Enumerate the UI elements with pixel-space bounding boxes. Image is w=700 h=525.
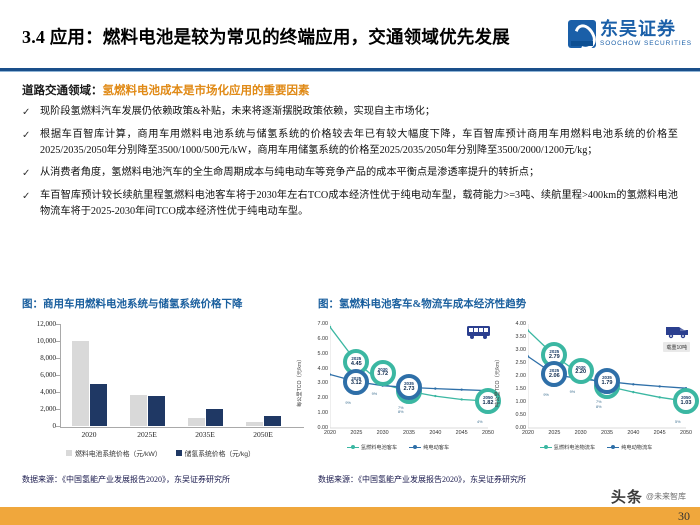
x-axis-tick-label: 2030 <box>575 430 587 436</box>
x-axis-tick-label: 2050E <box>253 430 273 439</box>
section-heading-highlight: 氢燃料电池成本是市场化应用的重要因素 <box>103 85 310 97</box>
y-axis-tick-label: 3.00 <box>302 380 328 386</box>
series-point <box>434 387 436 389</box>
y-axis-tick <box>56 375 60 376</box>
bar <box>206 409 223 426</box>
marker-percent: 9% <box>543 393 549 397</box>
y-axis-tick-label: 4.00 <box>302 366 328 372</box>
check-icon: ✓ <box>22 188 40 204</box>
x-axis-tick-label: 2025E <box>137 430 157 439</box>
legend-line-icon <box>540 447 552 449</box>
data-marker-donut: 20252.069% <box>541 361 567 387</box>
marker-value: 1.03 <box>681 401 692 407</box>
data-marker-label: 20252.79 <box>549 350 560 360</box>
slide-page: 3.4 应用：燃料电池是较为常见的终端应用，交通领域优先发展 东吴证券 SOOC… <box>0 0 700 525</box>
x-axis-tick-label: 2020 <box>82 430 97 439</box>
tco-charts-region: 氢燃料电池客车 纯电动客车 每公里TCO（元/km）0.001.002.003.… <box>300 318 700 468</box>
series-point <box>460 388 462 390</box>
y-axis-tick-label: 4.00 <box>500 321 526 327</box>
y-axis-tick <box>56 409 60 410</box>
slide-body: 道路交通领域：氢燃料电池成本是市场化应用的重要因素 ✓ 现阶段氢燃料汽车发展仍依… <box>0 74 700 226</box>
logo-name-en: SOOCHOW SECURITIES <box>600 41 692 48</box>
legend-label: 纯电动物流车 <box>621 444 652 451</box>
y-axis-tick-label: 2.50 <box>500 360 526 366</box>
list-item: ✓ 从消费者角度，氢燃料电池汽车的全生命周期成本与纯电动车等竞争产品的成本平衡点… <box>22 165 678 181</box>
data-marker-label: 20254.45 <box>351 357 362 367</box>
marker-value: 1.82 <box>483 400 494 406</box>
logo-text: 东吴证券 SOOCHOW SECURITIES <box>600 20 692 48</box>
data-marker-donut: 20351.797% <box>594 368 620 394</box>
marker-percent: 9% <box>372 392 378 396</box>
y-axis-tick-label: 0.50 <box>500 412 526 418</box>
marker-percent: 8% <box>596 405 602 409</box>
check-icon: ✓ <box>22 104 40 120</box>
y-axis-tick-label: 3.50 <box>500 334 526 340</box>
page-number: 30 <box>678 509 690 524</box>
soochow-logo-icon <box>568 20 596 48</box>
section-heading: 道路交通领域：氢燃料电池成本是市场化应用的重要因素 <box>22 82 700 98</box>
bullet-list: ✓ 现阶段氢燃料汽车发展仍依赖政策&补贴，未来将逐渐摆脱政策依赖，实现自主市场化… <box>22 104 678 219</box>
marker-percent: 9% <box>345 401 351 405</box>
x-axis-tick-label: 2035E <box>195 430 215 439</box>
y-axis-tick-label: 3.00 <box>500 347 526 353</box>
bar <box>148 396 165 426</box>
bar <box>264 416 281 426</box>
y-axis-tick-label: 2.00 <box>302 395 328 401</box>
x-axis-tick-label: 2025 <box>548 430 560 436</box>
legend-label: 氢燃料电池物流车 <box>554 444 596 451</box>
data-marker-donut: 20303.729% <box>370 360 396 386</box>
data-marker-label: 20252.06 <box>549 369 560 379</box>
x-axis-tick-label: 2040 <box>627 430 639 436</box>
data-marker-label: 20302.20 <box>575 366 586 376</box>
legend-item-hydrogen-storage: 储氢系统价格（元/kg） <box>176 448 255 458</box>
logo-name-cn: 东吴证券 <box>600 20 692 38</box>
bar-group <box>246 416 281 426</box>
data-marker-label: 20253.12 <box>351 376 362 386</box>
source-note-right: 数据来源：《中国氢能产业发展报告2020》，东吴证券研究所 <box>318 474 618 486</box>
bar-group <box>130 395 165 426</box>
line-chart-truck-tco: 氢燃料电池物流车 纯电动物流车 吨公里TCO（元/km）0.000.501.00… <box>498 318 694 468</box>
list-item: ✓ 车百智库预计较长续航里程氢燃料电池客车将于2030年左右TCO成本经济性优于… <box>22 188 678 219</box>
data-marker-donut: 20352.737% <box>396 374 422 400</box>
source-note-left: 数据来源：《中国氢能产业发展报告2020》，东吴证券研究所 <box>22 474 272 486</box>
legend-line-icon <box>607 447 619 449</box>
legend-label: 燃料电池系统价格（元/kW） <box>75 448 161 458</box>
x-axis-tick-label: 2030 <box>377 430 389 436</box>
x-axis-tick-label: 2025 <box>350 430 362 436</box>
bar-group <box>188 409 223 426</box>
legend-label: 储氢系统价格（元/kg） <box>185 448 255 458</box>
legend-line-icon <box>409 447 421 449</box>
bar-chart-price-decline: 02,0004,0006,0008,00010,00012,000 燃料电池系统… <box>18 318 303 468</box>
list-item: ✓ 根据车百智库计算，商用车用燃料电池系统与储氢系统的价格较去年已有较大幅度下降… <box>22 127 678 158</box>
x-axis-tick-label: 2045 <box>654 430 666 436</box>
list-item-text: 从消费者角度，氢燃料电池汽车的全生命周期成本与纯电动车等竞争产品的成本平衡点是渗… <box>40 165 539 181</box>
y-axis-tick-label: 5.00 <box>302 351 328 357</box>
marker-percent: 9% <box>570 390 576 394</box>
y-axis-tick <box>56 392 60 393</box>
x-axis-tick-label: 2050 <box>482 430 494 436</box>
y-axis-tick <box>56 324 60 325</box>
x-axis-tick-label: 2035 <box>403 430 415 436</box>
y-axis-tick-label: 2.00 <box>500 373 526 379</box>
series-point <box>434 395 436 397</box>
bar-chart-y-axis: 02,0004,0006,0008,00010,00012,000 <box>18 318 58 432</box>
list-item-text: 现阶段氢燃料汽车发展仍依赖政策&补贴，未来将逐渐摆脱政策依赖，实现自主市场化； <box>40 104 435 120</box>
list-item-text: 车百智库预计较长续航里程氢燃料电池客车将于2030年左右TCO成本经济性优于纯电… <box>40 188 678 219</box>
y-axis-tick-label: 1.50 <box>500 386 526 392</box>
x-axis-tick-label: 2045 <box>456 430 468 436</box>
marker-value: 1.79 <box>602 381 613 387</box>
data-marker-label: 20352.73 <box>404 382 415 392</box>
y-axis-tick-label: 7.00 <box>302 321 328 327</box>
marker-value: 2.06 <box>549 374 560 380</box>
y-axis-tick-label: 10,000 <box>37 337 56 345</box>
section-heading-lead: 道路交通领域： <box>22 85 103 97</box>
bar-chart-x-axis-line <box>60 427 304 428</box>
y-axis-tick-label: 6.00 <box>302 336 328 342</box>
legend-swatch-icon <box>176 450 182 456</box>
legend-item-fuel-cell: 燃料电池系统价格（元/kW） <box>66 448 161 458</box>
source-notes: 数据来源：《中国氢能产业发展报告2020》，东吴证券研究所 数据来源：《中国氢能… <box>0 474 700 508</box>
x-axis-tick-label: 2050 <box>680 430 692 436</box>
y-axis-tick <box>56 341 60 342</box>
bar <box>72 341 89 426</box>
data-marker-donut: 20253.129% <box>343 369 369 395</box>
marker-value: 2.73 <box>404 387 415 393</box>
data-marker-donut: 20302.209% <box>568 358 594 384</box>
data-marker-label: 20351.79 <box>602 376 613 386</box>
line-chart-bus-tco: 氢燃料电池客车 纯电动客车 每公里TCO（元/km）0.001.002.003.… <box>300 318 496 468</box>
series-point <box>658 385 660 387</box>
marker-value: 4.45 <box>351 361 362 367</box>
series-point <box>460 398 462 400</box>
brand-logo: 东吴证券 SOOCHOW SECURITIES <box>568 20 692 48</box>
footer-bar <box>0 507 700 525</box>
title-number: 3.4 <box>22 27 45 47</box>
y-axis-tick-label: 1.00 <box>302 410 328 416</box>
bus-icon <box>466 324 492 345</box>
header-divider-thin <box>0 71 700 72</box>
marker-value: 2.79 <box>549 355 560 361</box>
data-marker-label: 20501.03 <box>681 396 692 406</box>
watermark-sub: @未来智库 <box>646 491 686 502</box>
y-axis-tick-label: 1.00 <box>500 399 526 405</box>
figure-caption-right: 图：氢燃料电池客车&物流车成本经济性趋势 <box>318 296 526 311</box>
bar-group <box>72 341 107 426</box>
legend-item-ev-truck: 纯电动物流车 <box>607 444 652 451</box>
y-axis-tick <box>56 358 60 359</box>
list-item-text: 根据车百智库计算，商用车用燃料电池系统与储氢系统的价格较去年已有较大幅度下降，车… <box>40 127 678 158</box>
watermark: 头条 @未来智库 <box>611 486 686 507</box>
legend-item-ev-bus: 纯电动客车 <box>409 444 449 451</box>
data-marker-label: 20501.82 <box>483 396 494 406</box>
marker-percent: 5% <box>675 420 681 424</box>
y-axis-tick-label: 12,000 <box>37 320 56 328</box>
data-marker-label: 20303.72 <box>377 367 388 377</box>
legend-item-h2-bus: 氢燃料电池客车 <box>347 444 397 451</box>
marker-percent: 7% <box>398 406 404 410</box>
legend-swatch-icon <box>66 450 72 456</box>
marker-percent: 7% <box>596 400 602 404</box>
y-axis-tick-label: 6,000 <box>40 371 56 379</box>
slide-header: 3.4 应用：燃料电池是较为常见的终端应用，交通领域优先发展 东吴证券 SOOC… <box>0 0 700 72</box>
series-point <box>658 396 660 398</box>
watermark-main: 头条 <box>611 486 643 507</box>
page-title: 3.4 应用：燃料电池是较为常见的终端应用，交通领域优先发展 <box>22 24 510 49</box>
marker-percent: 4% <box>477 420 483 424</box>
bar <box>130 395 147 426</box>
payload-badge: 载重10吨 <box>663 342 690 352</box>
legend-line-icon <box>347 447 359 449</box>
check-icon: ✓ <box>22 165 40 181</box>
marker-value: 3.72 <box>377 372 388 378</box>
y-axis-tick <box>56 426 60 427</box>
bar <box>188 418 205 427</box>
charts-region: 02,0004,0006,0008,00010,00012,000 燃料电池系统… <box>0 318 700 468</box>
marker-percent: 8% <box>398 410 404 414</box>
marker-value: 2.20 <box>575 370 586 376</box>
x-axis-tick-label: 2020 <box>324 430 336 436</box>
title-text: 应用：燃料电池是较为常见的终端应用，交通领域优先发展 <box>50 27 510 47</box>
bar-chart-legend: 燃料电池系统价格（元/kW） 储氢系统价格（元/kg） <box>18 448 303 458</box>
list-item: ✓ 现阶段氢燃料汽车发展仍依赖政策&补贴，未来将逐渐摆脱政策依赖，实现自主市场化… <box>22 104 678 120</box>
y-axis-tick-label: 4,000 <box>40 388 56 396</box>
marker-value: 3.12 <box>351 381 362 387</box>
truck-chart-legend: 氢燃料电池物流车 纯电动物流车 <box>498 444 694 451</box>
series-point <box>632 383 634 385</box>
check-icon: ✓ <box>22 127 40 143</box>
legend-label: 氢燃料电池客车 <box>361 444 397 451</box>
data-marker-donut: 20501.035% <box>673 388 699 414</box>
x-axis-tick-label: 2040 <box>429 430 441 436</box>
bar <box>90 384 107 427</box>
y-axis-tick-label: 8,000 <box>40 354 56 362</box>
bus-chart-legend: 氢燃料电池客车 纯电动客车 <box>300 444 496 451</box>
x-axis-tick-label: 2035 <box>601 430 613 436</box>
y-axis-tick-label: 2,000 <box>40 405 56 413</box>
legend-item-h2-truck: 氢燃料电池物流车 <box>540 444 596 451</box>
series-point <box>632 391 634 393</box>
figure-caption-left: 图：商用车用燃料电池系统与储氢系统价格下降 <box>22 296 243 311</box>
bar <box>246 422 263 426</box>
legend-label: 纯电动客车 <box>423 444 449 451</box>
x-axis-tick-label: 2020 <box>522 430 534 436</box>
bar-chart-plot <box>60 324 292 426</box>
